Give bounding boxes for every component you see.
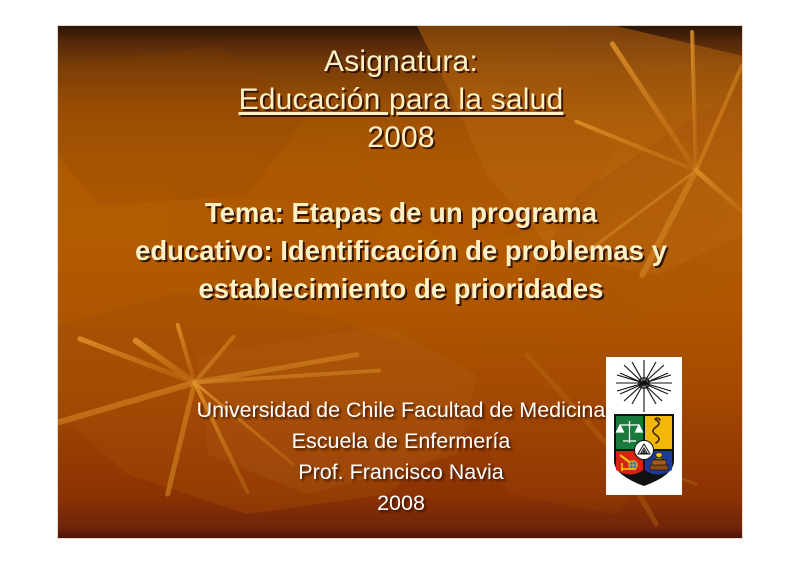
presentation-slide: Asignatura: Educación para la salud 2008… [57,25,743,539]
heading-line-2-course: Educación para la salud [58,81,743,119]
slide-title: Tema: Etapas de un programa educativo: I… [58,194,743,308]
heading-line-1: Asignatura: [58,43,743,81]
subject-heading: Asignatura: Educación para la salud 2008 [58,43,743,156]
title-line-2: educativo: Identificación de problemas y [58,232,743,270]
title-line-3: establecimiento de prioridades [58,270,743,308]
universidad-de-chile-logo [606,357,682,495]
title-line-1: Tema: Etapas de un programa [58,194,743,232]
heading-line-3-year: 2008 [58,119,743,157]
